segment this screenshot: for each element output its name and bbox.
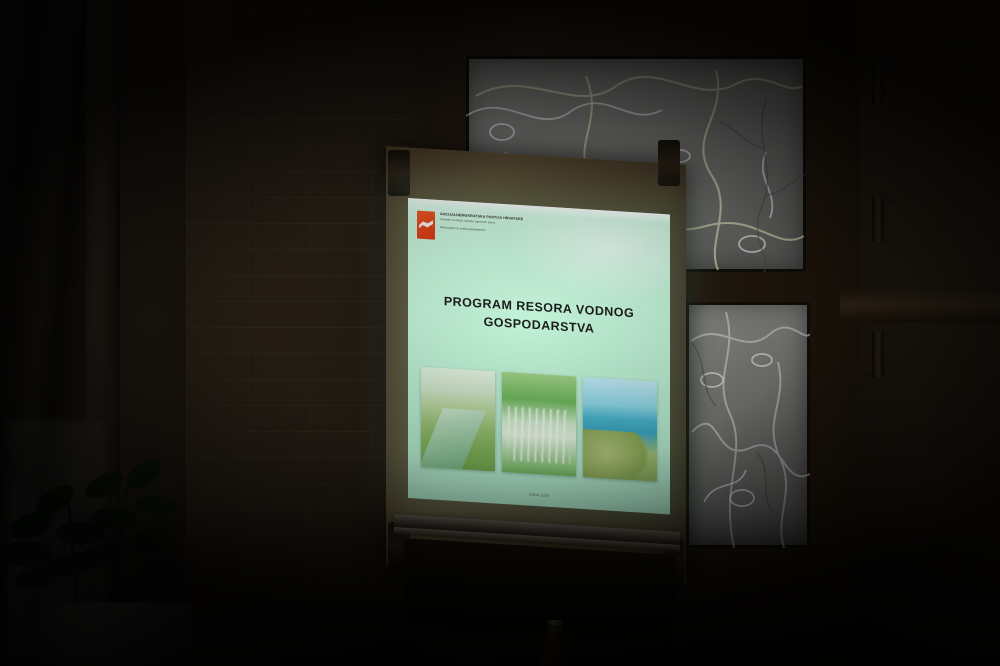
photo-canal-landscape bbox=[421, 367, 495, 472]
photo-waterfalls bbox=[502, 372, 576, 477]
board-bracket-top-left bbox=[388, 150, 410, 196]
projection-screen: SOCIJALDEMOKRATSKA PARTIJA HRVATSKE Hrva… bbox=[408, 198, 670, 514]
bottle-cap bbox=[546, 620, 563, 625]
slide-title: PROGRAM RESORA VODNOG GOSPODARSTVA bbox=[408, 290, 670, 343]
door-hinge-top bbox=[872, 60, 884, 106]
presentation-slide: SOCIJALDEMOKRATSKA PARTIJA HRVATSKE Hrva… bbox=[408, 198, 670, 514]
logo-subtagline: Naš program za snažno gospodarstvo bbox=[440, 227, 523, 235]
door-mid-rail bbox=[840, 288, 1000, 322]
plant-pot bbox=[42, 603, 192, 666]
potted-zz-plant bbox=[0, 455, 215, 666]
bottle-neck bbox=[547, 624, 561, 638]
board-bracket-top-right bbox=[658, 140, 680, 186]
mobile-whiteboard: SOCIJALDEMOKRATSKA PARTIJA HRVATSKE Hrva… bbox=[386, 146, 686, 566]
bottle-body bbox=[538, 634, 570, 666]
floral-vine-pattern-icon-lower bbox=[686, 302, 810, 548]
glass-bottle[interactable] bbox=[536, 620, 572, 666]
etched-floral-glass-lower bbox=[686, 302, 810, 548]
door-hinge-mid bbox=[872, 196, 884, 242]
door-hinge-bottom bbox=[872, 332, 884, 378]
photo-scene: SOCIJALDEMOKRATSKA PARTIJA HRVATSKE Hrva… bbox=[0, 0, 1000, 666]
slide-photo-strip bbox=[421, 367, 657, 482]
sdp-logo: SOCIJALDEMOKRATSKA PARTIJA HRVATSKE Hrva… bbox=[417, 211, 523, 246]
sdp-logo-mark bbox=[417, 211, 435, 240]
photo-coast-islands bbox=[583, 377, 657, 482]
